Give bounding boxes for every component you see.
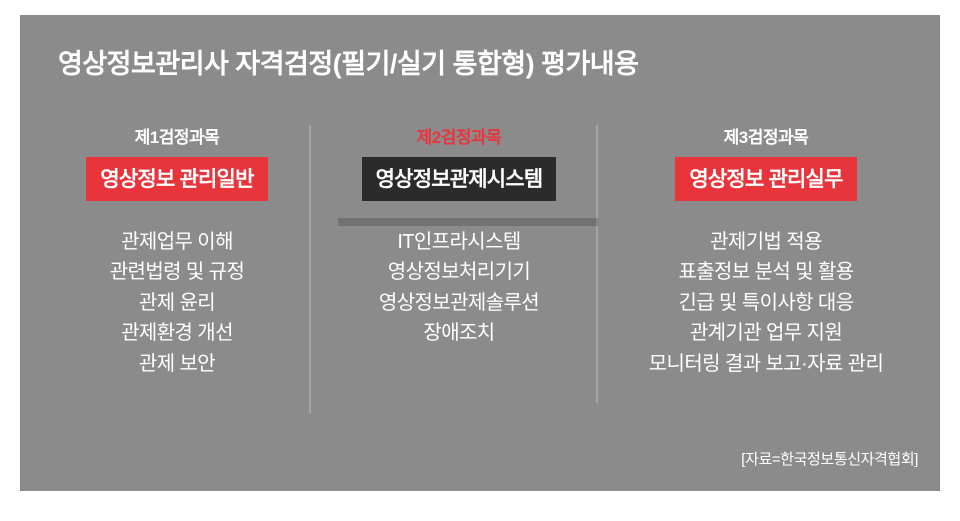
infographic-poster: 영상정보관리사 자격검정(필기/실기 통합형) 평가내용 제1검정과목 영상정보…: [20, 15, 940, 491]
list-item: 관련법령 및 규정: [38, 257, 316, 287]
list-item: 관제환경 개선: [38, 318, 316, 348]
subject-item-list-3: 관제기법 적용 표출정보 분석 및 활용 긴급 및 특이사항 대응 관계기관 업…: [608, 227, 924, 379]
list-item: 장애조치: [320, 318, 598, 348]
list-item: IT인프라시스템: [320, 227, 598, 257]
subject-label-2: 제2검정과목: [320, 123, 598, 148]
subject-column-2: 제2검정과목 영상정보관제시스템 IT인프라시스템 영상정보처리기기 영상정보관…: [320, 123, 598, 349]
list-item: 모니터링 결과 보고·자료 관리: [608, 349, 924, 379]
page-title: 영상정보관리사 자격검정(필기/실기 통합형) 평가내용: [58, 42, 638, 81]
subject-column-3: 제3검정과목 영상정보 관리실무 관제기법 적용 표출정보 분석 및 활용 긴급…: [608, 123, 924, 379]
subject-label-3: 제3검정과목: [608, 123, 924, 148]
subject-column-1: 제1검정과목 영상정보 관리일반 관제업무 이해 관련법령 및 규정 관제 윤리…: [38, 123, 316, 379]
list-item: 관제 윤리: [38, 288, 316, 318]
list-item: 영상정보관제솔루션: [320, 288, 598, 318]
subject-item-list-1: 관제업무 이해 관련법령 및 규정 관제 윤리 관제환경 개선 관제 보안: [38, 227, 316, 379]
subject-label-1: 제1검정과목: [38, 123, 316, 148]
list-item: 관제업무 이해: [38, 227, 316, 257]
list-item: 표출정보 분석 및 활용: [608, 257, 924, 287]
subject-banner-1: 영상정보 관리일반: [86, 157, 267, 201]
subject-item-list-2: IT인프라시스템 영상정보처리기기 영상정보관제솔루션 장애조치: [320, 227, 598, 349]
subject-banner-2: 영상정보관제시스템: [362, 157, 557, 201]
list-item: 관제 보안: [38, 349, 316, 379]
list-item: 관계기관 업무 지원: [608, 318, 924, 348]
list-item: 관제기법 적용: [608, 227, 924, 257]
list-item: 긴급 및 특이사항 대응: [608, 288, 924, 318]
subject-banner-3: 영상정보 관리실무: [675, 157, 856, 201]
list-item: 영상정보처리기기: [320, 257, 598, 287]
source-credit: [자료=한국정보통신자격협회]: [741, 448, 918, 469]
